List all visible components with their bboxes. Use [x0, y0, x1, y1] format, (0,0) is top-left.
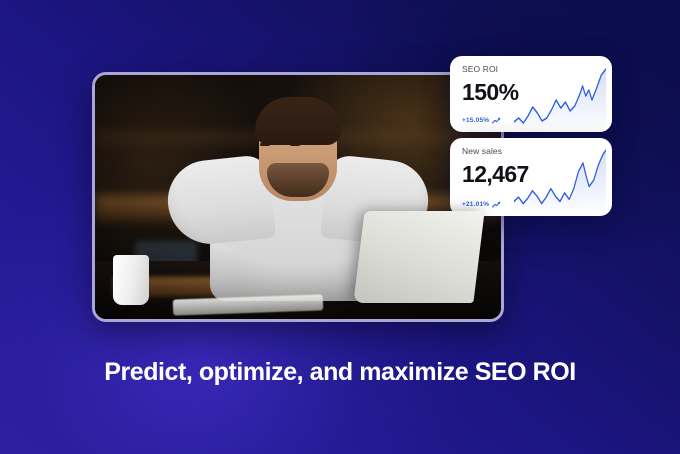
trend-up-icon	[492, 201, 501, 208]
photo-laptop	[353, 211, 484, 303]
stat-delta-text: +21.01%	[462, 201, 489, 208]
headline: Predict, optimize, and maximize SEO ROI	[0, 358, 680, 387]
promo-banner: SEO ROI 150% +15.05%	[0, 0, 680, 454]
hero-photo-frame	[92, 72, 504, 322]
sparkline-new-sales	[514, 148, 606, 210]
hero-photo	[95, 75, 501, 319]
trend-up-icon	[492, 117, 501, 124]
stat-delta-seo-roi: +15.05%	[462, 117, 501, 124]
photo-hair	[255, 97, 341, 145]
stat-delta-text: +15.05%	[462, 117, 489, 124]
sparkline-seo-roi	[514, 66, 606, 126]
photo-mug	[113, 255, 149, 305]
stat-card-seo-roi[interactable]: SEO ROI 150% +15.05%	[450, 56, 612, 132]
stat-delta-new-sales: +21.01%	[462, 201, 501, 208]
stat-card-new-sales[interactable]: New sales 12,467 +21.01%	[450, 138, 612, 216]
photo-eye-left	[260, 143, 270, 146]
photo-eye-right	[290, 143, 300, 146]
